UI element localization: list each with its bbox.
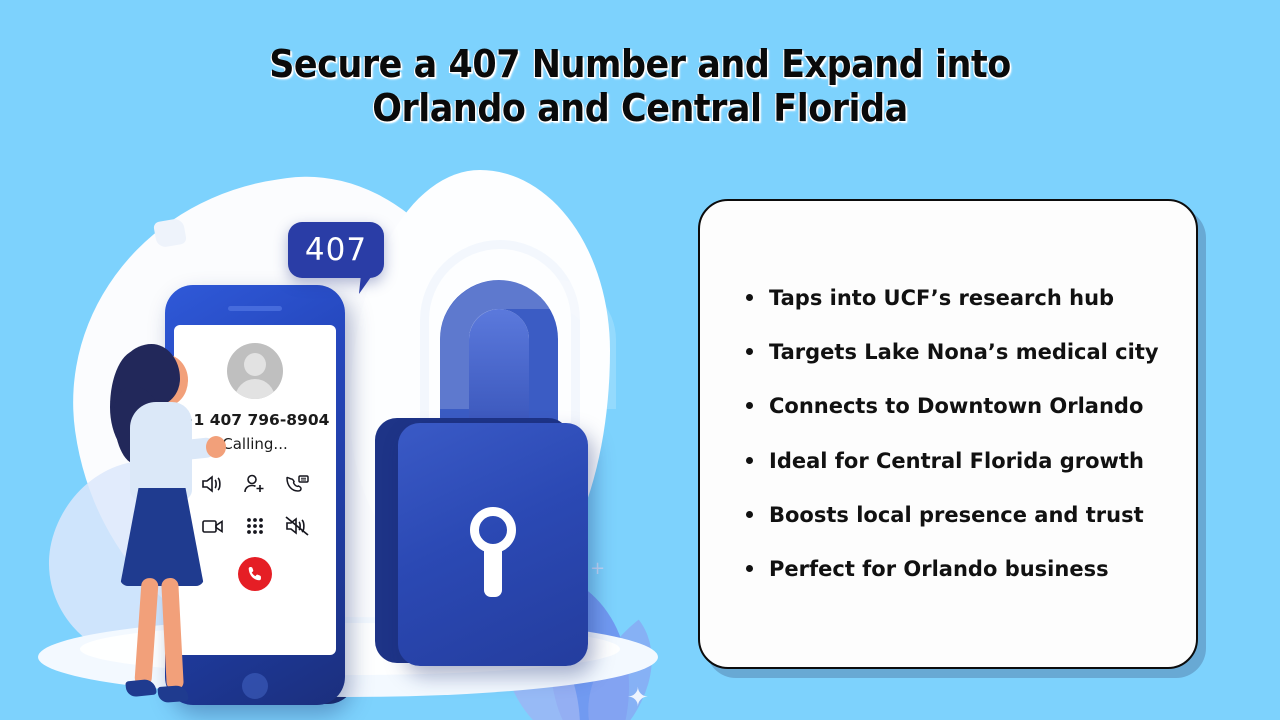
woman-illustration bbox=[102, 340, 222, 700]
mute-icon[interactable] bbox=[284, 515, 310, 539]
bullet-dot-icon bbox=[746, 348, 753, 355]
list-item-label: Taps into UCF’s research hub bbox=[769, 286, 1114, 311]
avatar-body bbox=[235, 379, 275, 399]
phone-home-button[interactable] bbox=[242, 673, 268, 699]
list-item: Ideal for Central Florida growth bbox=[746, 449, 1170, 474]
list-item-label: Ideal for Central Florida growth bbox=[769, 449, 1144, 474]
keypad-icon[interactable] bbox=[242, 515, 268, 539]
list-item: Boosts local presence and trust bbox=[746, 503, 1170, 528]
bullet-dot-icon bbox=[746, 457, 753, 464]
hand bbox=[206, 436, 226, 458]
skirt bbox=[120, 488, 204, 586]
shoe bbox=[157, 685, 188, 703]
leg bbox=[161, 578, 184, 691]
bullet-dot-icon bbox=[746, 402, 753, 409]
list-item: Targets Lake Nona’s medical city bbox=[746, 340, 1170, 365]
area-code-label: 407 bbox=[305, 232, 367, 268]
bullet-dot-icon bbox=[746, 565, 753, 572]
avatar bbox=[227, 343, 283, 399]
page-title: Secure a 407 Number and Expand into Orla… bbox=[51, 42, 1229, 130]
leg bbox=[134, 578, 158, 687]
list-item: Taps into UCF’s research hub bbox=[746, 286, 1170, 311]
avatar-head bbox=[244, 353, 266, 376]
illustration: + + + ✦ +1 407 796-8904 Calling... bbox=[20, 160, 680, 705]
list-item-label: Boosts local presence and trust bbox=[769, 503, 1144, 528]
plus-icon: + bbox=[590, 560, 605, 578]
bullet-dot-icon bbox=[746, 294, 753, 301]
add-person-icon[interactable] bbox=[242, 473, 268, 497]
keyhole-stem bbox=[484, 545, 502, 597]
padlock-icon bbox=[398, 423, 588, 666]
benefits-list: Taps into UCF’s research hub Targets Lak… bbox=[746, 286, 1170, 582]
list-item-label: Connects to Downtown Orlando bbox=[769, 394, 1143, 419]
list-item-label: Perfect for Orlando business bbox=[769, 557, 1109, 582]
call-record-icon[interactable] bbox=[284, 473, 310, 497]
list-item: Connects to Downtown Orlando bbox=[746, 394, 1170, 419]
phone-handset-icon bbox=[246, 565, 264, 583]
list-item-label: Targets Lake Nona’s medical city bbox=[769, 340, 1159, 365]
phone-earpiece bbox=[228, 306, 282, 311]
page-title-line-1: Secure a 407 Number and Expand into bbox=[51, 42, 1229, 86]
list-item: Perfect for Orlando business bbox=[746, 557, 1170, 582]
bullet-dot-icon bbox=[746, 511, 753, 518]
area-code-badge-tail bbox=[359, 274, 373, 294]
shoe bbox=[125, 678, 157, 697]
sparkle-icon: ✦ bbox=[627, 685, 649, 711]
page-title-line-2: Orlando and Central Florida bbox=[51, 86, 1229, 130]
benefits-card: Taps into UCF’s research hub Targets Lak… bbox=[698, 199, 1198, 669]
area-code-badge: 407 bbox=[288, 222, 384, 278]
end-call-button[interactable] bbox=[238, 557, 272, 591]
decor-chip bbox=[153, 218, 187, 249]
